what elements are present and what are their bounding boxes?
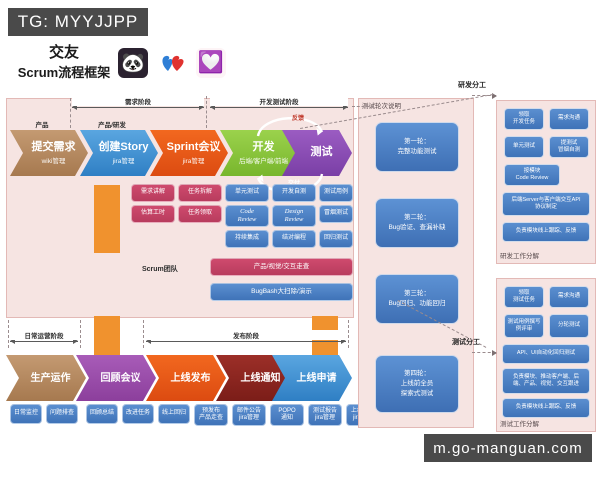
flow-step-title: Sprint会议 <box>167 141 221 153</box>
site-watermark: m.go-manguan.com <box>424 434 592 462</box>
phase-label-devtest: 开发测试阶段 <box>257 99 302 106</box>
scrum-bar-walkthrough[interactable]: 产品/视觉/交互走查 <box>210 258 353 276</box>
dev-item-api-protocol[interactable]: 后端Server与客户端交互API协议制定 <box>502 192 590 216</box>
column-header-product-rd: 产品/研发 <box>82 119 142 129</box>
release-step-title: 上线申请 <box>297 373 337 384</box>
release-step-title: 上线通知 <box>241 373 281 384</box>
test-item-case-writing[interactable]: 测试用例撰写例评审 <box>504 314 544 338</box>
flow-step-title: 提交需求 <box>32 141 76 153</box>
telegram-watermark: TG: MYYJJPP <box>8 8 148 36</box>
task-box-task-claim[interactable]: 任务领取 <box>178 205 222 223</box>
panda-app-icon: 🐼 <box>118 48 148 78</box>
phase-divider-1 <box>70 98 71 128</box>
task-box-continuous-integration[interactable]: 持续集成 <box>225 230 269 248</box>
flow-step-title: 测试 <box>311 146 333 158</box>
title-line-1: 交友 <box>14 42 114 64</box>
release-task-prerelease[interactable]: 预发布产品走查 <box>194 404 228 426</box>
phase-label-requirement: 需求阶段 <box>122 99 154 106</box>
feedback-label: 反馈 <box>292 113 304 122</box>
task-box-unit-test[interactable]: 单元测试 <box>225 184 269 202</box>
connector-to-test-panel <box>472 352 496 353</box>
diagram-canvas: TG: MYYJJPP 交友 Scrum流程框架 🐼 💟 需求阶段 开发测试阶段… <box>0 0 600 480</box>
test-item-online-tracking[interactable]: 负责模块线上跟踪、反馈 <box>502 398 590 418</box>
pink-heart-app-icon: 💟 <box>196 48 226 78</box>
release-task-retro-summary[interactable]: 回顾总结 <box>86 404 118 424</box>
test-item-round-testing[interactable]: 分轮测试 <box>549 314 589 338</box>
release-task-daily-monitor[interactable]: 日常监控 <box>10 404 42 424</box>
dev-item-unit-test[interactable]: 单元测试 <box>504 136 544 158</box>
bottom-divider-1 <box>8 320 9 348</box>
pink-heart-glyph: 💟 <box>198 51 224 75</box>
phase-label-daily-ops: 日常运营阶段 <box>22 333 67 340</box>
bottom-divider-3 <box>143 320 144 348</box>
release-task-improvement[interactable]: 改进任务 <box>122 404 154 424</box>
flow-step-sub: 后端/客户端/前端 <box>239 155 288 165</box>
test-round-1[interactable]: 第一轮：完整功能测试 <box>375 122 459 172</box>
title-line-2: Scrum流程框架 <box>14 64 114 83</box>
release-task-online-regression[interactable]: 线上回归 <box>158 404 190 424</box>
bottom-divider-4 <box>348 320 349 348</box>
flow-step-sub: jira管理 <box>113 155 135 165</box>
task-box-test-case[interactable]: 测试用例 <box>319 184 353 202</box>
phase-label-release: 发布阶段 <box>230 333 262 340</box>
test-breakdown-caption: 测试工作分解 <box>500 418 539 428</box>
release-step-title: 回顾会议 <box>101 373 141 384</box>
release-step-title: 生产运作 <box>31 373 71 384</box>
release-task-popo-notice[interactable]: POPO通知 <box>270 404 304 426</box>
flow-step-sub: wiki管理 <box>42 155 66 165</box>
dev-item-code-review[interactable]: 按模块Code Review <box>504 164 560 186</box>
phase-ruler-release: 发布阶段 <box>146 332 346 346</box>
task-box-code-review[interactable]: CodeReview <box>225 205 269 227</box>
bottom-divider-2 <box>80 320 81 348</box>
task-box-estimate-hours[interactable]: 估算工时 <box>131 205 175 223</box>
task-box-task-breakdown[interactable]: 任务拆解 <box>178 184 222 202</box>
upward-arrow-left <box>94 185 120 253</box>
hearts-svg <box>160 52 186 74</box>
task-box-dev-self-test[interactable]: 开发自测 <box>272 184 316 202</box>
scrum-bar-bugbash[interactable]: BugBash大扫除/演示 <box>210 283 353 301</box>
dev-item-requirement-comm[interactable]: 需求沟通 <box>549 108 589 130</box>
test-round-2[interactable]: 第二轮：Bug验证、查漏补缺 <box>375 198 459 248</box>
task-box-pair-programming[interactable]: 结对编程 <box>272 230 316 248</box>
flow-step-sub: jira管理 <box>183 155 205 165</box>
scrum-team-label: Scrum团队 <box>142 264 178 274</box>
phase-ruler-requirement: 需求阶段 <box>72 98 204 112</box>
release-step-production-ops[interactable]: 生产运作 <box>6 355 86 401</box>
release-task-email-notice[interactable]: 邮件公告jira管理 <box>232 404 266 426</box>
test-round-3[interactable]: 第三轮：Bug回归、功能回归 <box>375 274 459 324</box>
release-step-retrospective[interactable]: 回顾会议 <box>76 355 156 401</box>
connector-main-to-rounds <box>352 106 374 107</box>
column-header-product: 产品 <box>16 119 68 129</box>
dev-item-claim-task[interactable]: 领取开发任务 <box>504 108 544 130</box>
dev-item-submit-test[interactable]: 提测试冒烟自测 <box>549 136 589 158</box>
flow-step-title: 开发 <box>253 141 275 153</box>
task-box-regression-test[interactable]: 回归测试 <box>319 230 353 248</box>
release-step-title: 上线发布 <box>171 373 211 384</box>
phase-divider-2 <box>206 96 207 128</box>
flow-step-title: 创建Story <box>98 141 148 153</box>
task-box-design-review[interactable]: DesignReview <box>272 205 316 227</box>
panda-glyph: 🐼 <box>121 51 145 75</box>
test-item-module-coordination[interactable]: 负责模块、推动客户端、后端、产品、视觉、交互跟进 <box>502 368 590 394</box>
test-item-requirement-comm[interactable]: 需求沟通 <box>549 286 589 308</box>
release-step-publish[interactable]: 上线发布 <box>146 355 226 401</box>
page-title: 交友 Scrum流程框架 <box>14 42 114 83</box>
test-item-claim-task[interactable]: 领取测试任务 <box>504 286 544 308</box>
hearts-app-icon <box>158 48 188 78</box>
dev-item-online-tracking[interactable]: 负责模块线上跟踪、反馈 <box>502 222 590 242</box>
release-task-troubleshoot[interactable]: 问题排查 <box>46 404 78 424</box>
dev-breakdown-caption: 研发工作分解 <box>500 250 539 260</box>
task-box-requirement-explain[interactable]: 需求讲解 <box>131 184 175 202</box>
test-item-automation[interactable]: API、UI自动化回归测试 <box>502 344 590 364</box>
dev-connector-label: 研发分工 <box>458 80 486 90</box>
test-round-4[interactable]: 第四轮：上线前全员探索式测试 <box>375 355 459 413</box>
phase-ruler-daily-ops: 日常运营阶段 <box>10 332 78 346</box>
release-task-test-report[interactable]: 测试报告jira管理 <box>308 404 342 426</box>
test-rounds-caption: 测试轮次说明 <box>362 100 401 110</box>
